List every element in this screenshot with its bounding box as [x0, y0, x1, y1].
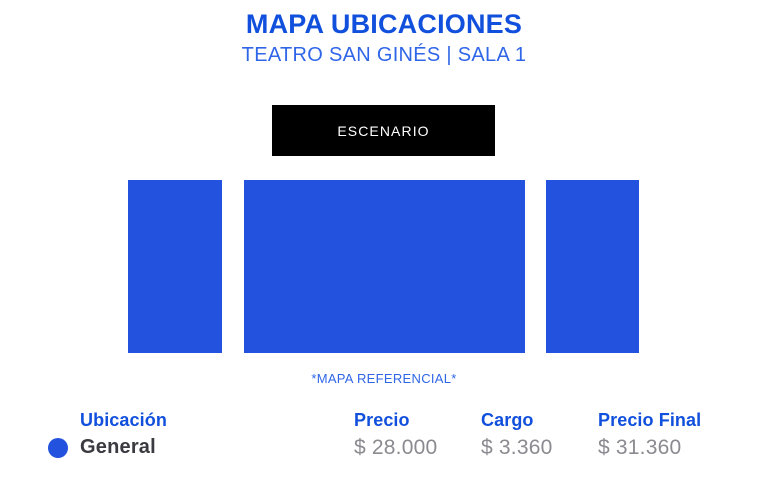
column-header-total: Precio Final — [598, 410, 701, 431]
referential-map-note: *MAPA REFERENCIAL* — [0, 371, 768, 386]
map-header: MAPA UBICACIONES TEATRO SAN GINÉS | SALA… — [0, 8, 768, 68]
right-seating-block[interactable] — [546, 180, 639, 353]
stage-block: ESCENARIO — [272, 105, 495, 156]
price-legend-table: Ubicación Precio Cargo Precio Final Gene… — [0, 410, 768, 468]
page-title: MAPA UBICACIONES — [0, 8, 768, 40]
center-seating-block[interactable] — [244, 180, 525, 353]
stage-label: ESCENARIO — [337, 123, 429, 139]
page-subtitle: TEATRO SAN GINÉS | SALA 1 — [0, 42, 768, 68]
zone-total-value: $ 31.360 — [598, 436, 681, 460]
zone-color-dot-icon — [48, 438, 68, 458]
zone-price-value: $ 28.000 — [354, 436, 437, 460]
table-row[interactable]: General $ 28.000 $ 3.360 $ 31.360 — [0, 436, 768, 468]
legend-header-row: Ubicación Precio Cargo Precio Final — [0, 410, 768, 436]
column-header-price: Precio — [354, 410, 410, 431]
column-header-fee: Cargo — [481, 410, 534, 431]
left-seating-block[interactable] — [128, 180, 222, 353]
column-header-zone: Ubicación — [80, 410, 167, 431]
zone-name-label: General — [80, 436, 156, 459]
zone-fee-value: $ 3.360 — [481, 436, 552, 460]
zone-cell[interactable]: General — [48, 436, 156, 459]
